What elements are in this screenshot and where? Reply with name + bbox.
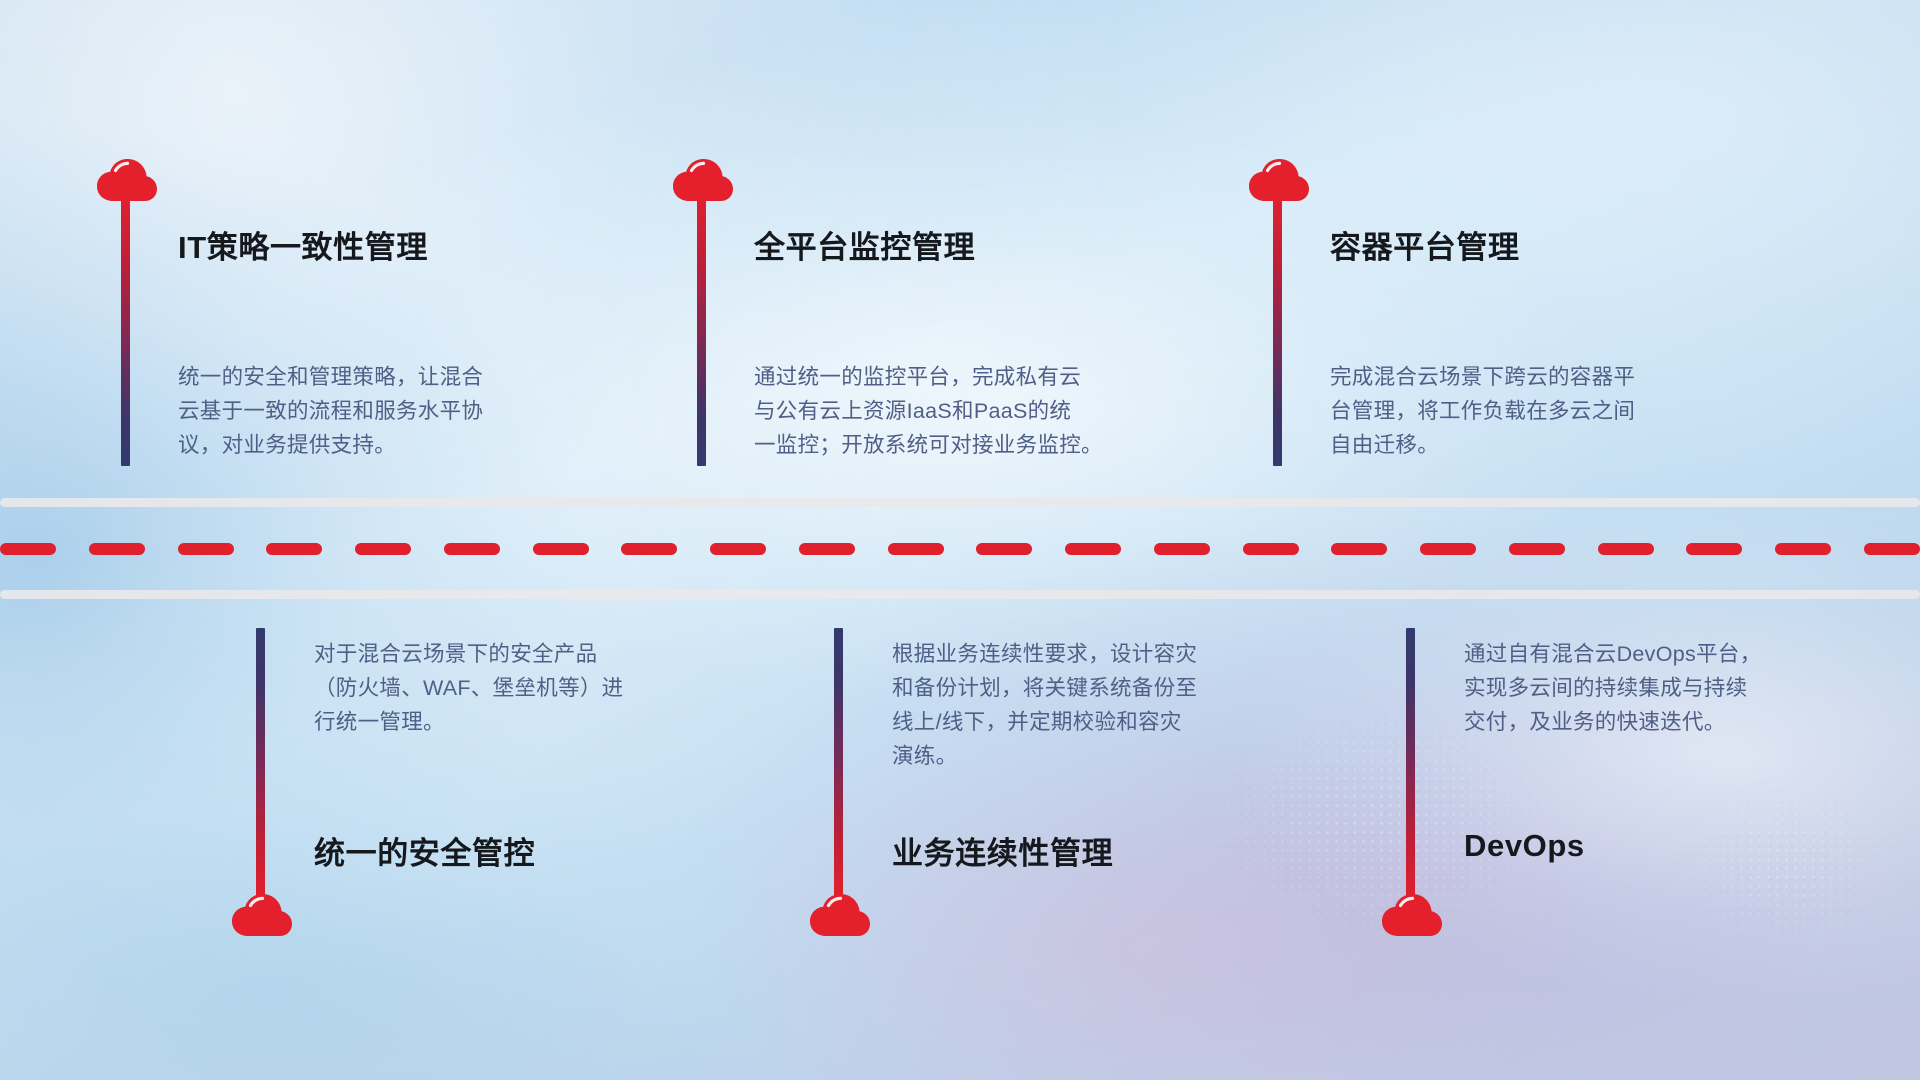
top-column-1-description: 统一的安全和管理策略，让混合 云基于一致的流程和服务水平协 议，对业务提供支持。	[178, 360, 483, 462]
desc-line: 通过自有混合云DevOps平台，	[1464, 637, 1761, 671]
connector-line	[1273, 196, 1282, 466]
divider-dash	[266, 543, 322, 555]
divider-dash	[1154, 543, 1210, 555]
divider-dash	[1775, 543, 1831, 555]
infographic-canvas: IT策略一致性管理 统一的安全和管理策略，让混合 云基于一致的流程和服务水平协 …	[0, 0, 1920, 1080]
divider-dash	[799, 543, 855, 555]
bottom-column-3-title: DevOps	[1464, 828, 1585, 864]
top-column-2-title: 全平台监控管理	[754, 222, 975, 267]
divider-dash	[1686, 543, 1742, 555]
connector-line	[256, 628, 265, 900]
top-column-1-title: IT策略一致性管理	[178, 222, 428, 267]
divider-rail-bottom	[0, 590, 1920, 599]
desc-line: 演练。	[892, 739, 1197, 773]
top-column-3-description: 完成混合云场景下跨云的容器平 台管理，将工作负载在多云之间 自由迁移。	[1330, 360, 1635, 462]
desc-line: 根据业务连续性要求，设计容灾	[892, 637, 1197, 671]
divider-dash	[621, 543, 677, 555]
desc-line: 云基于一致的流程和服务水平协	[178, 394, 483, 428]
cloud-icon	[1381, 893, 1443, 937]
connector-line	[697, 196, 706, 466]
bottom-column-2-title: 业务连续性管理	[892, 828, 1113, 873]
desc-line: 和备份计划，将关键系统备份至	[892, 671, 1197, 705]
divider-dash	[1420, 543, 1476, 555]
desc-line: 自由迁移。	[1330, 428, 1635, 462]
divider-dashed-line	[0, 543, 1920, 555]
desc-line: 交付，及业务的快速迭代。	[1464, 705, 1761, 739]
bottom-column-3-description: 通过自有混合云DevOps平台， 实现多云间的持续集成与持续 交付，及业务的快速…	[1464, 637, 1761, 739]
divider-dash	[0, 543, 56, 555]
desc-line: 通过统一的监控平台，完成私有云	[754, 360, 1103, 394]
desc-line: 线上/线下，并定期校验和容灾	[892, 705, 1197, 739]
connector-line	[121, 196, 130, 466]
divider-dash	[444, 543, 500, 555]
divider-dash	[355, 543, 411, 555]
top-column-3-title: 容器平台管理	[1330, 222, 1520, 267]
connector-line	[1406, 628, 1415, 900]
divider-dash	[1331, 543, 1387, 555]
divider-dash	[178, 543, 234, 555]
divider-dash	[1598, 543, 1654, 555]
divider-dash	[89, 543, 145, 555]
bottom-column-1-title: 统一的安全管控	[314, 828, 535, 873]
desc-line: 对于混合云场景下的安全产品	[314, 637, 623, 671]
divider-dash	[710, 543, 766, 555]
desc-line: 统一的安全和管理策略，让混合	[178, 360, 483, 394]
cloud-icon	[809, 893, 871, 937]
desc-line: 行统一管理。	[314, 705, 623, 739]
bottom-column-1-description: 对于混合云场景下的安全产品 （防火墙、WAF、堡垒机等）进 行统一管理。	[314, 637, 623, 739]
divider-rail-top	[0, 498, 1920, 507]
divider-dash	[1243, 543, 1299, 555]
desc-line: 完成混合云场景下跨云的容器平	[1330, 360, 1635, 394]
desc-line: 一监控；开放系统可对接业务监控。	[754, 428, 1103, 462]
connector-line	[834, 628, 843, 900]
divider-dash	[888, 543, 944, 555]
divider-dash	[533, 543, 589, 555]
desc-line: 台管理，将工作负载在多云之间	[1330, 394, 1635, 428]
divider-dash	[1065, 543, 1121, 555]
divider-dash	[1509, 543, 1565, 555]
desc-line: 与公有云上资源IaaS和PaaS的统	[754, 394, 1103, 428]
desc-line: （防火墙、WAF、堡垒机等）进	[314, 671, 623, 705]
bottom-column-2-description: 根据业务连续性要求，设计容灾 和备份计划，将关键系统备份至 线上/线下，并定期校…	[892, 637, 1197, 773]
desc-line: 实现多云间的持续集成与持续	[1464, 671, 1761, 705]
divider-dash	[976, 543, 1032, 555]
cloud-icon	[231, 893, 293, 937]
divider-dash	[1864, 543, 1920, 555]
desc-line: 议，对业务提供支持。	[178, 428, 483, 462]
top-column-2-description: 通过统一的监控平台，完成私有云 与公有云上资源IaaS和PaaS的统 一监控；开…	[754, 360, 1103, 462]
